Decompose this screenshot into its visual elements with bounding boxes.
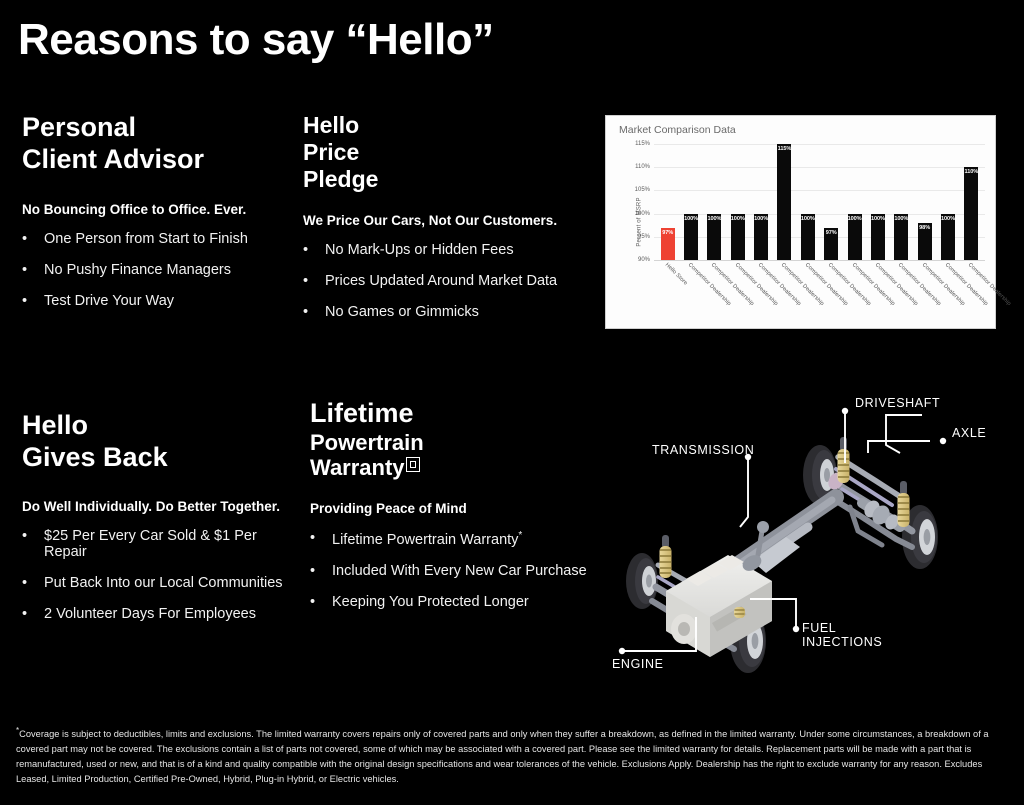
callout-fuel-injections-line2: INJECTIONS — [802, 635, 882, 649]
heading-line-2: Client Advisor — [22, 144, 204, 174]
chart-bar[interactable]: 100% — [801, 214, 815, 260]
chart-x-label-wrap: Competitor Dealership — [679, 260, 702, 326]
section-heading: Lifetime Powertrain Warranty — [310, 398, 595, 481]
chart-bar-value-label: 100% — [871, 216, 885, 222]
chart-x-label-wrap: Competitor Dealership — [936, 260, 959, 326]
chart-bar-value-label: 100% — [801, 216, 815, 222]
bullet-dot-icon: • — [22, 528, 27, 544]
list-item: •Prices Updated Around Market Data — [303, 273, 578, 289]
heading-line-3: Warranty — [310, 455, 595, 481]
chart-x-label-wrap: Competitor Dealership — [773, 260, 796, 326]
bullet-dot-icon: • — [22, 262, 27, 278]
chart-bar-value-label: 100% — [754, 216, 768, 222]
chart-bar-value-label: 98% — [918, 225, 932, 231]
chart-x-label-wrap: Competitor Dealership — [749, 260, 772, 326]
bullet-dot-icon: • — [22, 293, 27, 309]
chart-bar-wrap: 100% — [703, 144, 726, 260]
chart-bar-wrap: 110% — [960, 144, 983, 260]
chart-y-tick: 100% — [635, 211, 650, 217]
chart-bar-wrap: 100% — [726, 144, 749, 260]
chart-bar[interactable]: 97% — [661, 228, 675, 260]
chart-bar[interactable]: 110% — [964, 167, 978, 260]
heading-line-2: Price — [303, 139, 359, 165]
section-subheading: No Bouncing Office to Office. Ever. — [22, 202, 292, 217]
section-subheading: Do Well Individually. Do Better Together… — [22, 499, 300, 514]
coil-spring-rear-right — [898, 481, 910, 527]
chart-bar-value-label: 100% — [848, 216, 862, 222]
list-item: •$25 Per Every Car Sold & $1 Per Repair — [22, 528, 300, 560]
list-item: •Included With Every New Car Purchase — [310, 563, 595, 579]
chart-bar-wrap: 100% — [890, 144, 913, 260]
bullet-dot-icon: • — [22, 575, 27, 591]
list-item-label: One Person from Start to Finish — [44, 231, 292, 247]
list-item-label: 2 Volunteer Days For Employees — [44, 606, 300, 622]
chart-bar-wrap: 100% — [866, 144, 889, 260]
chart-x-label-wrap: Competitor Dealership — [843, 260, 866, 326]
footnote-text: Coverage is subject to deductibles, limi… — [16, 729, 989, 784]
section-subheading: Providing Peace of Mind — [310, 501, 595, 516]
chart-bar[interactable]: 115% — [777, 144, 791, 260]
chart-bar[interactable]: 100% — [871, 214, 885, 260]
callout-engine: ENGINE — [612, 657, 664, 671]
chart-bar-value-label: 110% — [964, 169, 978, 175]
bullet-list: •Lifetime Powertrain Warranty* •Included… — [310, 530, 595, 610]
bullet-dot-icon: • — [22, 231, 27, 247]
bullet-dot-icon: • — [310, 594, 315, 610]
section-personal-client-advisor: Personal Client Advisor No Bouncing Offi… — [22, 112, 292, 324]
chart-bar-value-label: 100% — [941, 216, 955, 222]
bullet-dot-icon: • — [22, 606, 27, 622]
chart-x-tick: Competitor Dealership — [967, 262, 1012, 307]
section-hello-gives-back: Hello Gives Back Do Well Individually. D… — [22, 410, 300, 637]
heading-line-2: Powertrain — [310, 430, 595, 456]
chart-bar-value-label: 100% — [731, 216, 745, 222]
list-item: •Test Drive Your Way — [22, 293, 292, 309]
list-item: •No Pushy Finance Managers — [22, 262, 292, 278]
slide-root: Reasons to say “Hello” Personal Client A… — [0, 0, 1024, 805]
bullet-dot-icon: • — [303, 242, 308, 258]
bullet-dot-icon: • — [310, 530, 315, 546]
chart-bar-wrap: 100% — [843, 144, 866, 260]
chart-title: Market Comparison Data — [619, 124, 736, 136]
chart-x-label-wrap: Competitor Dealership — [726, 260, 749, 326]
chart-x-label-wrap: Competitor Dealership — [890, 260, 913, 326]
chart-bar[interactable]: 100% — [894, 214, 908, 260]
list-item: •One Person from Start to Finish — [22, 231, 292, 247]
heading-line-1: Personal — [22, 112, 136, 142]
car-chassis-diagram: DRIVESHAFT AXLE TRANSMISSION FUEL INJECT… — [600, 385, 1024, 685]
bullet-dot-icon: • — [303, 304, 308, 320]
chart-bar-wrap: 100% — [936, 144, 959, 260]
list-item-label: Included With Every New Car Purchase — [332, 563, 595, 579]
list-item-label: $25 Per Every Car Sold & $1 Per Repair — [44, 528, 300, 560]
chart-bar-value-label: 115% — [777, 146, 791, 152]
page-title: Reasons to say “Hello” — [18, 18, 494, 62]
heading-line-3-text: Warranty — [310, 455, 405, 480]
chart-y-tick: 115% — [635, 141, 650, 147]
chart-bar-wrap: 97% — [820, 144, 843, 260]
list-item-label: Test Drive Your Way — [44, 293, 292, 309]
chart-bar[interactable]: 100% — [707, 214, 721, 260]
market-comparison-chart: Market Comparison Data Percent of MSRP 9… — [605, 115, 996, 329]
chart-bar-wrap: 98% — [913, 144, 936, 260]
chart-bar[interactable]: 100% — [684, 214, 698, 260]
list-item-label: No Games or Gimmicks — [325, 304, 578, 320]
chart-bar-wrap: 100% — [679, 144, 702, 260]
chart-bar-value-label: 100% — [684, 216, 698, 222]
chart-bar-value-label: 100% — [894, 216, 908, 222]
heading-line-1: Hello — [22, 410, 88, 440]
chart-bar[interactable]: 100% — [848, 214, 862, 260]
chart-bar-value-label: 97% — [661, 230, 675, 236]
bullet-dot-icon: • — [310, 563, 315, 579]
chart-x-label-wrap: Competitor Dealership — [820, 260, 843, 326]
chart-bar-value-label: 100% — [707, 216, 721, 222]
list-item: •Keeping You Protected Longer — [310, 594, 595, 610]
chart-bar-wrap: 97% — [656, 144, 679, 260]
chart-bars: 97%100%100%100%100%115%100%97%100%100%10… — [654, 144, 985, 260]
chart-bar[interactable]: 98% — [918, 223, 932, 260]
chart-x-label-wrap: Competitor Dealership — [960, 260, 983, 326]
chart-bar[interactable]: 100% — [731, 214, 745, 260]
list-item-label: No Mark-Ups or Hidden Fees — [325, 242, 578, 258]
footnote-disclaimer: *Coverage is subject to deductibles, lim… — [16, 725, 1008, 787]
chart-y-tick: 105% — [635, 187, 650, 193]
chart-bar-value-label: 97% — [824, 230, 838, 236]
heading-line-3: Pledge — [303, 166, 378, 192]
heading-line-1: Hello — [303, 112, 359, 138]
callout-driveshaft: DRIVESHAFT — [855, 396, 940, 410]
chart-bar[interactable]: 97% — [824, 228, 838, 260]
coil-spring-rear-left — [838, 437, 850, 483]
list-item: •No Games or Gimmicks — [303, 304, 578, 320]
callout-fuel-injections-line1: FUEL — [802, 621, 836, 635]
list-item: •Lifetime Powertrain Warranty* — [310, 530, 595, 548]
chart-x-label-wrap: Competitor Dealership — [913, 260, 936, 326]
heading-line-2: Gives Back — [22, 442, 168, 472]
chart-bar[interactable]: 100% — [941, 214, 955, 260]
heading-line-1: Lifetime — [310, 398, 595, 430]
list-item-label: Prices Updated Around Market Data — [325, 273, 578, 289]
chart-x-label-wrap: Hello Store — [656, 260, 679, 326]
list-item-label: Keeping You Protected Longer — [332, 594, 595, 610]
section-heading: Personal Client Advisor — [22, 112, 292, 175]
section-heading: Hello Price Pledge — [303, 112, 578, 193]
chart-y-tick: 110% — [635, 164, 650, 170]
chart-bar-wrap: 100% — [796, 144, 819, 260]
bullet-dot-icon: • — [303, 273, 308, 289]
bullet-list: •One Person from Start to Finish •No Pus… — [22, 231, 292, 309]
chart-x-label-wrap: Competitor Dealership — [866, 260, 889, 326]
bullet-list: •No Mark-Ups or Hidden Fees •Prices Upda… — [303, 242, 578, 320]
footnote-marker: * — [518, 530, 522, 541]
chart-bar-wrap: 115% — [773, 144, 796, 260]
missing-glyph-icon — [406, 457, 420, 472]
chart-x-label-wrap: Competitor Dealership — [796, 260, 819, 326]
chart-y-tick: 90% — [638, 257, 650, 263]
coil-spring-front-right — [734, 607, 745, 618]
list-item: •Put Back Into our Local Communities — [22, 575, 300, 591]
callout-fuel-injections: FUEL INJECTIONS — [802, 621, 882, 650]
callout-axle: AXLE — [952, 426, 986, 440]
list-item-label: Put Back Into our Local Communities — [44, 575, 300, 591]
chart-bar[interactable]: 100% — [754, 214, 768, 260]
chart-x-label-wrap: Competitor Dealership — [703, 260, 726, 326]
chart-y-tick: 95% — [638, 234, 650, 240]
chart-plot-area: 90%95%100%105%110%115% 97%100%100%100%10… — [654, 144, 985, 260]
section-lifetime-powertrain-warranty: Lifetime Powertrain Warranty Providing P… — [310, 398, 595, 625]
list-item-text: Lifetime Powertrain Warranty — [332, 532, 518, 548]
list-item: •2 Volunteer Days For Employees — [22, 606, 300, 622]
bullet-list: •$25 Per Every Car Sold & $1 Per Repair … — [22, 528, 300, 622]
section-heading: Hello Gives Back — [22, 410, 300, 473]
chart-bar-wrap: 100% — [749, 144, 772, 260]
list-item: •No Mark-Ups or Hidden Fees — [303, 242, 578, 258]
list-item-label: Lifetime Powertrain Warranty* — [332, 530, 595, 548]
section-subheading: We Price Our Cars, Not Our Customers. — [303, 213, 578, 228]
callout-transmission: TRANSMISSION — [652, 443, 754, 457]
list-item-label: No Pushy Finance Managers — [44, 262, 292, 278]
chart-x-axis-labels: Hello StoreCompetitor DealershipCompetit… — [654, 260, 985, 326]
section-hello-price-pledge: Hello Price Pledge We Price Our Cars, No… — [303, 112, 578, 335]
coil-spring-front-left — [660, 535, 672, 578]
